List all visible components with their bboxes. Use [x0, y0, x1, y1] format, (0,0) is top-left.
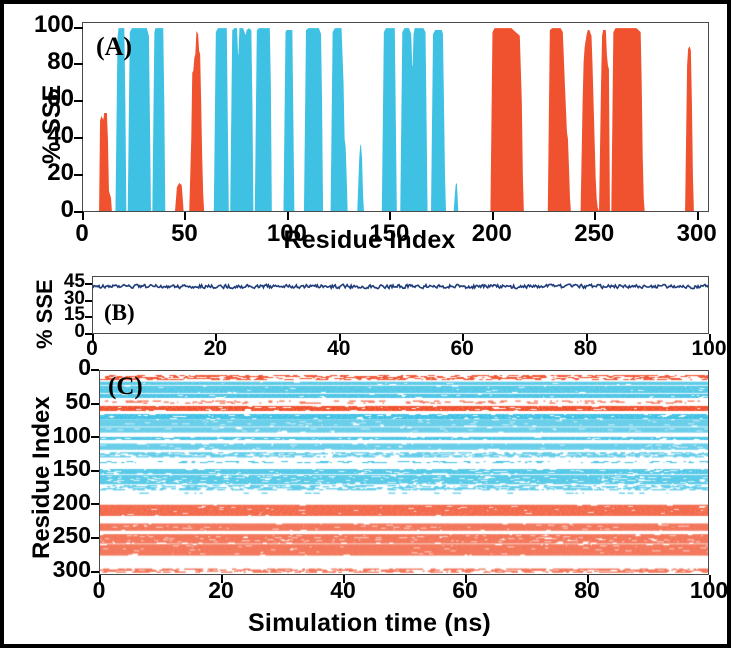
tick-label: 0 [21, 354, 91, 381]
tick-label: 80 [556, 337, 616, 361]
tick-mark [91, 403, 99, 405]
tick-mark [74, 27, 83, 29]
tick-mark [85, 283, 92, 285]
area-segment-helix [190, 32, 204, 212]
panel-b-chart [93, 277, 709, 334]
panel-a-tag: (A) [96, 32, 132, 62]
figure-container: % SSE (A) 050100150200250300 02040608010… [0, 0, 731, 648]
area-segment-strand [382, 29, 396, 212]
panel-a-plot-area [82, 22, 709, 212]
panel-c-x-axis-label: Simulation time (ns) [4, 609, 731, 638]
area-segment-strand [231, 29, 254, 212]
sse-time-trace [93, 284, 709, 288]
area-segment-helix [548, 29, 571, 212]
tick-mark [697, 212, 699, 220]
tick-label: 150 [21, 455, 91, 482]
area-segment-helix [685, 47, 693, 212]
tick-mark [85, 333, 92, 335]
panel-a-x-axis-label: Residue Index [4, 226, 731, 255]
tick-label: 60 [4, 85, 74, 113]
tick-label: 200 [21, 489, 91, 516]
panel-a-chart [83, 23, 709, 212]
tick-label: 45 [15, 271, 85, 293]
tick-label: 40 [4, 122, 74, 150]
area-segment-strand [454, 183, 458, 212]
area-segment-strand [304, 29, 322, 212]
tick-mark [594, 212, 596, 220]
tick-mark [91, 503, 99, 505]
tick-label: 80 [557, 577, 617, 604]
tick-mark [74, 137, 83, 139]
panel-c-chart [100, 371, 709, 575]
panel-c-tag: (C) [108, 373, 143, 401]
area-segment-strand [401, 29, 428, 212]
area-segment-helix [581, 30, 599, 212]
area-segment-helix [612, 29, 645, 212]
area-segment-strand [431, 30, 445, 212]
area-segment-helix [599, 30, 609, 212]
tick-label: 50 [21, 388, 91, 415]
tick-label: 20 [191, 577, 251, 604]
tick-label: 40 [309, 337, 369, 361]
tick-label: 40 [313, 577, 373, 604]
tick-mark [184, 212, 186, 220]
tick-mark [389, 212, 391, 220]
tick-label: 100 [4, 11, 74, 39]
tick-label: 100 [679, 577, 731, 604]
area-segment-strand [153, 29, 165, 212]
panel-c-plot-area [99, 370, 709, 575]
tick-mark [287, 212, 289, 220]
tick-mark [91, 436, 99, 438]
panel-b-tag: (B) [104, 300, 135, 326]
tick-mark [91, 571, 99, 573]
tick-mark [82, 212, 84, 220]
panel-b-plot-area [92, 276, 709, 334]
area-segment-strand [331, 29, 347, 212]
tick-label: 250 [21, 522, 91, 549]
tick-label: 100 [21, 422, 91, 449]
tick-label: 60 [432, 337, 492, 361]
tick-label: 80 [4, 48, 74, 76]
tick-mark [85, 316, 92, 318]
tick-mark [74, 174, 83, 176]
tick-label: 20 [185, 337, 245, 361]
area-segment-helix [491, 29, 524, 212]
tick-mark [91, 369, 99, 371]
tick-mark [91, 537, 99, 539]
tick-mark [74, 211, 83, 213]
tick-label: 0 [4, 196, 74, 224]
tick-label: 100 [679, 337, 731, 361]
tick-mark [91, 470, 99, 472]
area-segment-helix [175, 183, 183, 212]
area-segment-strand [255, 29, 271, 212]
tick-mark [74, 63, 83, 65]
tick-label: 300 [21, 556, 91, 583]
area-segment-strand [284, 30, 294, 212]
tick-mark [492, 212, 494, 220]
tick-label: 20 [4, 159, 74, 187]
tick-mark [74, 100, 83, 102]
tick-mark [85, 300, 92, 302]
tick-label: 60 [435, 577, 495, 604]
area-segment-helix [101, 113, 111, 212]
area-segment-strand [214, 29, 228, 212]
area-segment-strand [358, 145, 364, 212]
